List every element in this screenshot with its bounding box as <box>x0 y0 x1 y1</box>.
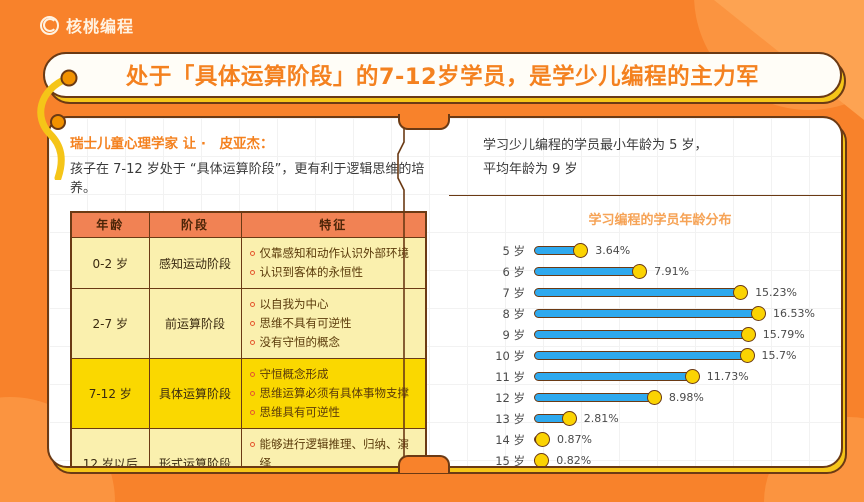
bar-track: 8.98% <box>534 387 831 408</box>
title-bar: 处于「具体运算阶段」的7-12岁学员，是学少儿编程的主力军 <box>43 52 842 98</box>
bar-value-label: 16.53% <box>773 307 815 320</box>
feature-item: 思维具有可逆性 <box>250 403 421 422</box>
bullet-dot-icon <box>250 251 255 256</box>
bar-row: 11 岁11.73% <box>483 366 831 387</box>
cell-features: 守恒概念形成思维运算必须有具体事物支撑思维具有可逆性 <box>241 359 426 429</box>
bar-knob-icon <box>535 432 550 447</box>
bar-knob-icon <box>573 243 588 258</box>
bar-category-label: 6 岁 <box>483 264 525 280</box>
bar-knob-icon <box>740 348 755 363</box>
stage-table: 年龄 阶段 特征 0-2 岁感知运动阶段仅靠感知和动作认识外部环境认识到客体的永… <box>70 211 427 468</box>
bar-track: 2.81% <box>534 408 831 429</box>
bar-category-label: 9 岁 <box>483 327 525 343</box>
brand-logo: 核桃编程 <box>40 13 134 37</box>
bar-category-label: 14 岁 <box>483 432 525 448</box>
cell-stage: 感知运动阶段 <box>149 238 241 289</box>
right-panel: 学习少儿编程的学员最小年龄为 5 岁， 平均年龄为 9 岁 学习编程的学员年龄分… <box>449 118 843 466</box>
feature-item: 以自我为中心 <box>250 295 421 314</box>
bar-track: 11.73% <box>534 366 831 387</box>
cell-stage: 形式运算阶段 <box>149 428 241 468</box>
bar-fill <box>534 309 762 318</box>
bar-track: 15.7% <box>534 345 831 366</box>
feature-item: 能够进行逻辑推理、归纳、演绎 <box>250 435 421 468</box>
cell-features: 以自我为中心思维不具有可逆性没有守恒的概念 <box>241 289 426 359</box>
bar-value-label: 0.82% <box>556 454 591 467</box>
table-header-age: 年龄 <box>71 212 149 238</box>
table-header-row: 年龄 阶段 特征 <box>71 212 426 238</box>
bar-track: 3.64% <box>534 240 831 261</box>
bar-category-label: 8 岁 <box>483 306 525 322</box>
bar-track: 16.53% <box>534 303 831 324</box>
bar-knob-icon <box>647 390 662 405</box>
bar-knob-icon <box>741 327 756 342</box>
card-notch-bottom <box>398 455 450 473</box>
feature-item: 思维运算必须有具体事物支撑 <box>250 384 421 403</box>
bullet-dot-icon <box>250 442 255 447</box>
bar-knob-icon <box>733 285 748 300</box>
cell-age: 7-12 岁 <box>71 359 149 429</box>
bullet-dot-icon <box>250 410 255 415</box>
bar-fill <box>534 267 643 276</box>
bar-track: 15.23% <box>534 282 831 303</box>
bar-category-label: 5 岁 <box>483 243 525 259</box>
bar-category-label: 13 岁 <box>483 411 525 427</box>
cell-age: 2-7 岁 <box>71 289 149 359</box>
chart-title: 学习编程的学员年龄分布 <box>489 209 831 228</box>
bar-category-label: 11 岁 <box>483 369 525 385</box>
cell-age: 12 岁以后 <box>71 428 149 468</box>
cell-stage: 具体运算阶段 <box>149 359 241 429</box>
cell-stage: 前运算阶段 <box>149 289 241 359</box>
feature-label: 能够进行逻辑推理、归纳、演绎 <box>260 435 421 468</box>
bar-knob-icon <box>562 411 577 426</box>
intro-line-2: 平均年龄为 9 岁 <box>483 158 831 182</box>
bar-row: 13 岁2.81% <box>483 408 831 429</box>
bar-row: 15 岁0.82% <box>483 450 831 468</box>
bar-value-label: 15.23% <box>755 286 797 299</box>
bullet-dot-icon <box>250 340 255 345</box>
feature-label: 思维不具有可逆性 <box>260 314 352 333</box>
bar-fill <box>534 288 744 297</box>
table-header-stage: 阶段 <box>149 212 241 238</box>
feature-label: 仅靠感知和动作认识外部环境 <box>260 244 410 263</box>
bar-value-label: 7.91% <box>654 265 689 278</box>
table-row: 0-2 岁感知运动阶段仅靠感知和动作认识外部环境认识到客体的永恒性 <box>71 238 426 289</box>
body-card: 瑞士儿童心理学家 让 · 皮亚杰： 孩子在 7-12 岁处于 “具体运算阶段”，… <box>47 116 843 468</box>
age-distribution-chart: 5 岁3.64%6 岁7.91%7 岁15.23%8 岁16.53%9 岁15.… <box>483 240 831 468</box>
cell-age: 0-2 岁 <box>71 238 149 289</box>
feature-label: 守恒概念形成 <box>260 365 329 384</box>
bar-knob-icon <box>632 264 647 279</box>
feature-item: 思维不具有可逆性 <box>250 314 421 333</box>
bar-category-label: 12 岁 <box>483 390 525 406</box>
bar-row: 8 岁16.53% <box>483 303 831 324</box>
left-panel: 瑞士儿童心理学家 让 · 皮亚杰： 孩子在 7-12 岁处于 “具体运算阶段”，… <box>49 118 445 466</box>
bar-row: 10 岁15.7% <box>483 345 831 366</box>
bar-value-label: 2.81% <box>584 412 619 425</box>
bullet-dot-icon <box>250 321 255 326</box>
cell-features: 仅靠感知和动作认识外部环境认识到客体的永恒性 <box>241 238 426 289</box>
panel-divider <box>449 195 843 196</box>
feature-item: 没有守恒的概念 <box>250 333 421 352</box>
feature-label: 认识到客体的永恒性 <box>260 263 364 282</box>
bullet-dot-icon <box>250 372 255 377</box>
bar-fill <box>534 393 658 402</box>
bar-row: 12 岁8.98% <box>483 387 831 408</box>
bar-category-label: 15 岁 <box>483 453 525 468</box>
feature-item: 守恒概念形成 <box>250 365 421 384</box>
bar-row: 14 岁0.87% <box>483 429 831 450</box>
brand-name: 核桃编程 <box>66 13 134 37</box>
table-header-features: 特征 <box>241 212 426 238</box>
quote-body: 孩子在 7-12 岁处于 “具体运算阶段”，更有利于逻辑思维的培养。 <box>70 161 429 199</box>
table-row: 12 岁以后形式运算阶段能够进行逻辑推理、归纳、演绎能够理解符号意义、隐喻等 <box>71 428 426 468</box>
bar-track: 7.91% <box>534 261 831 282</box>
walnut-spiral-icon <box>40 16 59 35</box>
bullet-dot-icon <box>250 391 255 396</box>
bar-category-label: 10 岁 <box>483 348 525 364</box>
bar-value-label: 11.73% <box>707 370 749 383</box>
bar-fill <box>534 330 752 339</box>
bar-value-label: 15.7% <box>762 349 797 362</box>
bar-row: 7 岁15.23% <box>483 282 831 303</box>
quote-author: 瑞士儿童心理学家 让 · 皮亚杰： <box>70 132 429 152</box>
bar-value-label: 8.98% <box>669 391 704 404</box>
page-title: 处于「具体运算阶段」的7-12岁学员，是学少儿编程的主力军 <box>126 59 759 91</box>
bar-row: 9 岁15.79% <box>483 324 831 345</box>
feature-item: 仅靠感知和动作认识外部环境 <box>250 244 421 263</box>
bar-track: 15.79% <box>534 324 831 345</box>
bar-fill <box>534 372 696 381</box>
bullet-dot-icon <box>250 270 255 275</box>
feature-item: 认识到客体的永恒性 <box>250 263 421 282</box>
intro-line-1: 学习少儿编程的学员最小年龄为 5 岁， <box>483 134 831 158</box>
feature-label: 思维运算必须有具体事物支撑 <box>260 384 410 403</box>
bar-value-label: 3.64% <box>595 244 630 257</box>
bar-value-label: 0.87% <box>557 433 592 446</box>
bar-value-label: 15.79% <box>763 328 805 341</box>
bar-track: 0.82% <box>534 450 831 468</box>
bullet-dot-icon <box>250 302 255 307</box>
bar-fill <box>534 351 751 360</box>
bar-knob-icon <box>534 453 549 468</box>
table-row: 2-7 岁前运算阶段以自我为中心思维不具有可逆性没有守恒的概念 <box>71 289 426 359</box>
bar-row: 5 岁3.64% <box>483 240 831 261</box>
bar-knob-icon <box>685 369 700 384</box>
feature-label: 以自我为中心 <box>260 295 329 314</box>
card-notch-top <box>398 114 450 130</box>
bar-row: 6 岁7.91% <box>483 261 831 282</box>
bar-category-label: 7 岁 <box>483 285 525 301</box>
feature-label: 思维具有可逆性 <box>260 403 341 422</box>
feature-label: 没有守恒的概念 <box>260 333 341 352</box>
bar-track: 0.87% <box>534 429 831 450</box>
table-row: 7-12 岁具体运算阶段守恒概念形成思维运算必须有具体事物支撑思维具有可逆性 <box>71 359 426 429</box>
bar-knob-icon <box>751 306 766 321</box>
